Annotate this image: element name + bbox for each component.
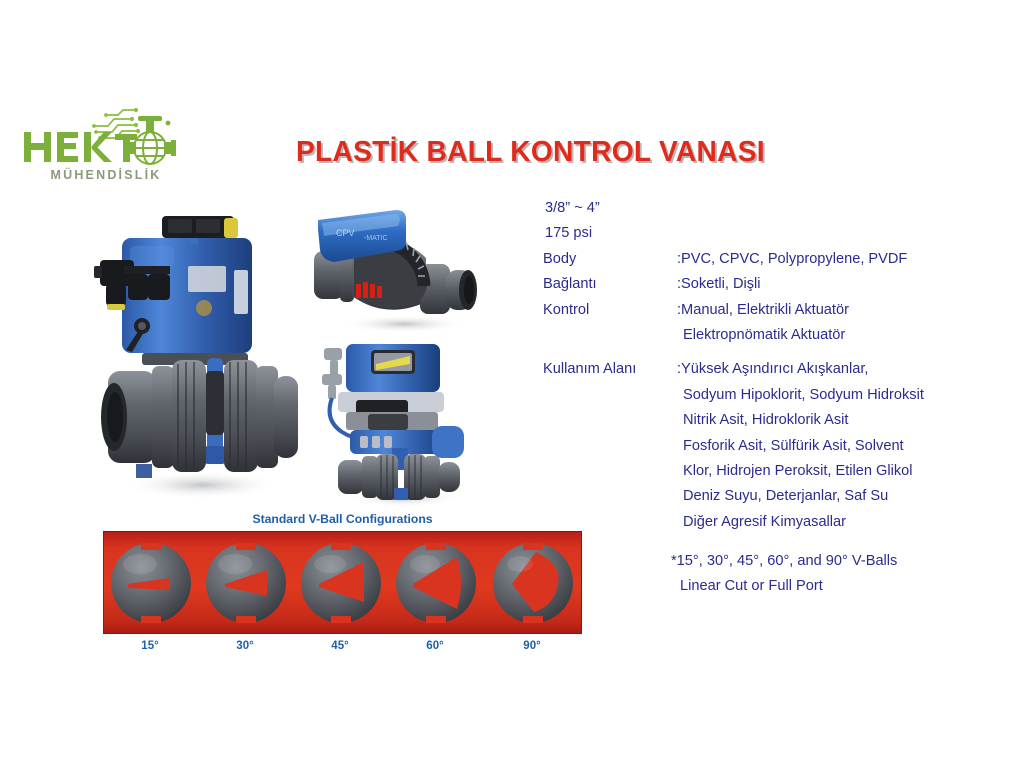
svg-text:-MATIC: -MATIC: [364, 235, 388, 242]
company-logo: MÜHENDİSLİK: [22, 104, 182, 194]
spec-label: Kontrol: [543, 298, 677, 323]
spec-value: :Manual, Elektrikli Aktuatör: [677, 298, 849, 323]
electric-actuator-ball-valve-image: [84, 208, 316, 504]
spec-control-cont-1: Elektropnömatik Aktuatör: [543, 323, 1013, 348]
vball-label-30: 30°: [215, 640, 275, 652]
vball-15-image: [108, 540, 194, 626]
electropneumatic-actuator-ball-valve-image: [316, 330, 486, 510]
note-line-1: *15°, 30°, 45°, 60°, and 90° V-Balls: [543, 553, 897, 569]
vball-45-image: [298, 540, 384, 626]
spec-label: Body: [543, 247, 677, 272]
specifications-list: 3/8” ~ 4” 175 psi Body:PVC, CPVC, Polypr…: [543, 196, 1013, 535]
vball-90-image: [490, 540, 576, 626]
vball-angle-labels: 15° 30° 45° 60° 90°: [103, 640, 582, 658]
spec-application-cont-3: Fosforik Asit, Sülfürik Asit, Solvent: [543, 434, 1013, 459]
spec-row-body: Body:PVC, CPVC, Polypropylene, PVDF: [543, 247, 1013, 272]
vball-60-image: [393, 540, 479, 626]
note-line-2: Linear Cut or Full Port: [543, 578, 823, 594]
spec-value: :PVC, CPVC, Polypropylene, PVDF: [677, 247, 907, 272]
spec-row-control: Kontrol:Manual, Elektrikli Aktuatör: [543, 298, 1013, 323]
valve-circuit-icon: [22, 104, 182, 166]
spec-row-application: Kullanım Alanı:Yüksek Aşındırıcı Akışkan…: [543, 357, 1013, 382]
spec-size-range: 3/8” ~ 4”: [543, 196, 1013, 221]
vball-note: *15°, 30°, 45°, 60°, and 90° V-Balls Lin…: [543, 549, 1013, 600]
spec-label: Kullanım Alanı: [543, 357, 677, 382]
vball-label-90: 90°: [502, 640, 562, 652]
vball-label-60: 60°: [405, 640, 465, 652]
spec-application-cont-6: Diğer Agresif Kimyasallar: [543, 510, 1013, 535]
svg-text:CPV: CPV: [336, 228, 355, 238]
manual-lever-ball-valve-image: CPV -MATIC: [312, 196, 488, 336]
spec-label: Bağlantı: [543, 272, 677, 297]
vball-30-image: [203, 540, 289, 626]
spec-application-cont-1: Sodyum Hipoklorit, Sodyum Hidroksit: [543, 383, 1013, 408]
spec-application-cont-4: Klor, Hidrojen Peroksit, Etilen Glikol: [543, 459, 1013, 484]
vball-label-15: 15°: [120, 640, 180, 652]
spec-pressure: 175 psi: [543, 221, 1013, 246]
vball-panel-heading: Standard V-Ball Configurations: [103, 512, 582, 526]
spec-value: :Soketli, Dişli: [677, 272, 761, 297]
page-title: PLASTİK BALL KONTROL VANASI: [296, 136, 733, 169]
vball-configurations-panel: [103, 531, 582, 634]
vball-label-45: 45°: [310, 640, 370, 652]
spec-application-cont-2: Nitrik Asit, Hidroklorik Asit: [543, 408, 1013, 433]
logo-subtitle: MÜHENDİSLİK: [30, 168, 182, 182]
spec-value: :Yüksek Aşındırıcı Akışkanlar,: [677, 357, 868, 382]
spec-row-connection: Bağlantı:Soketli, Dişli: [543, 272, 1013, 297]
spec-application-cont-5: Deniz Suyu, Deterjanlar, Saf Su: [543, 484, 1013, 509]
